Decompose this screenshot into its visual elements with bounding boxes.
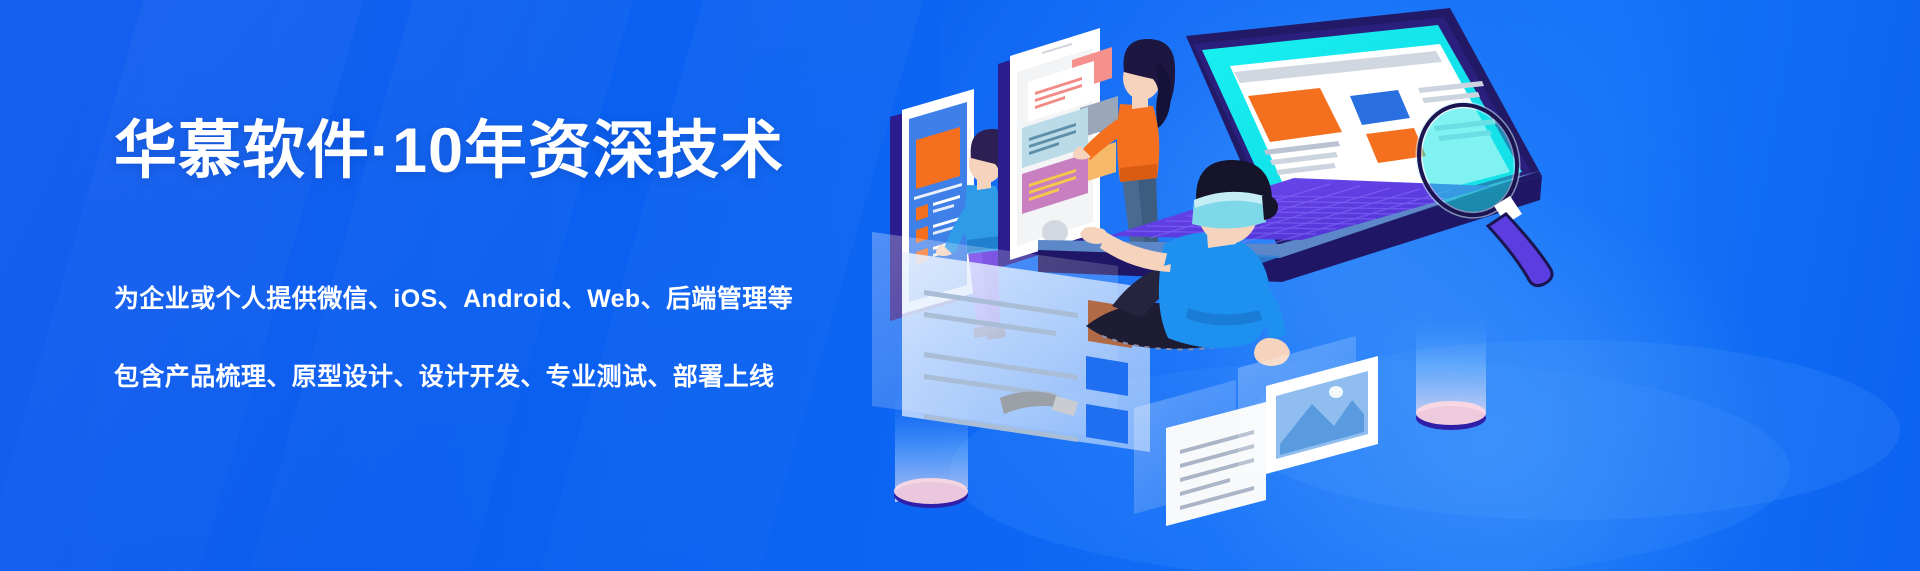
banner-copy: 华慕软件·10年资深技术 为企业或个人提供微信、iOS、Android、Web、… bbox=[114, 118, 894, 393]
subtitle-line-2: 包含产品梳理、原型设计、设计开发、专业测试、部署上线 bbox=[114, 357, 894, 393]
page-title: 华慕软件·10年资深技术 bbox=[114, 118, 894, 185]
pedestal-right bbox=[1416, 306, 1486, 430]
subtitle-line-1: 为企业或个人提供微信、iOS、Android、Web、后端管理等 bbox=[114, 279, 894, 315]
hero-illustration bbox=[850, 0, 1920, 571]
hero-banner: 华慕软件·10年资深技术 为企业或个人提供微信、iOS、Android、Web、… bbox=[0, 0, 1920, 571]
